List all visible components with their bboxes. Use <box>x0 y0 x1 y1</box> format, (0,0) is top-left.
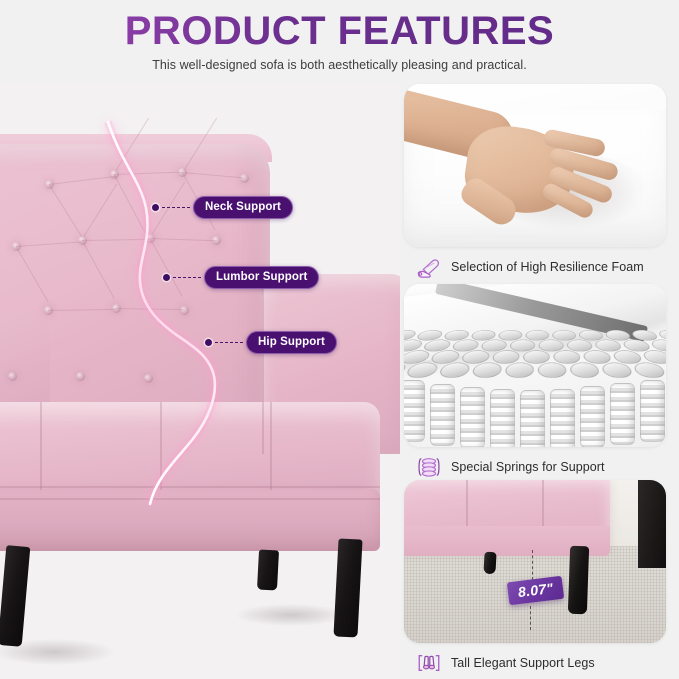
callout-lumbor-support[interactable]: Lumbor Support <box>163 266 319 289</box>
sofa-tuft-button <box>76 372 85 381</box>
callout-connector-line <box>173 277 201 278</box>
sofa-tuft-button <box>144 374 153 383</box>
sofa-seam <box>0 498 380 500</box>
callout-anchor-dot <box>205 339 212 346</box>
callout-label-hip-support[interactable]: Hip Support <box>246 331 337 354</box>
feature-photo-foam <box>404 84 666 247</box>
coil-spring-icon <box>416 454 442 480</box>
pocket-spring-coil <box>550 389 575 447</box>
pocket-spring-coil <box>490 389 515 447</box>
feature-photo-legs: 8.07" <box>404 480 666 643</box>
feature-panel-column: Selection of High Resilience Foam <box>404 84 679 679</box>
pocket-spring-coil <box>404 380 425 442</box>
page-subtitle: This well-designed sofa is both aestheti… <box>0 56 679 74</box>
pocket-spring-coil <box>580 386 605 447</box>
product-features-infographic: PRODUCT FEATURES This well-designed sofa… <box>0 0 679 679</box>
feature-caption-legs: Tall Elegant Support Legs <box>404 650 679 676</box>
callout-anchor-dot <box>152 204 159 211</box>
feature-caption-springs: Special Springs for Support <box>404 454 679 480</box>
sofa-base-seam <box>466 480 468 526</box>
feature-caption-text-springs: Special Springs for Support <box>451 460 605 474</box>
sofa-seam <box>160 402 162 490</box>
sofa-base-seam <box>542 480 544 526</box>
sofa-tuft-button <box>8 372 17 381</box>
callout-connector-line <box>215 342 243 343</box>
callout-neck-support[interactable]: Neck Support <box>152 196 293 219</box>
sofa-seam <box>0 486 380 488</box>
sofa-leg-front <box>568 546 589 615</box>
feature-photo-springs <box>404 284 666 447</box>
sofa-seam <box>270 402 272 490</box>
sofa-photo: Neck Support Lumbor Support Hip Support <box>0 84 400 679</box>
sofa-leg-shadow <box>236 604 346 626</box>
measurement-line-lower <box>530 606 531 630</box>
sofa-legs-icon <box>416 650 442 676</box>
feature-caption-foam: Selection of High Resilience Foam <box>404 254 679 280</box>
pocket-spring-coil <box>610 383 635 445</box>
feature-caption-text-foam: Selection of High Resilience Foam <box>451 260 644 274</box>
sofa-seam <box>262 274 264 454</box>
hand-on-foam-icon <box>416 254 442 280</box>
pocket-spring-coil <box>520 390 545 447</box>
sofa-leg <box>333 538 362 637</box>
sofa-leg-rear <box>483 552 496 575</box>
pocket-spring-coil <box>430 384 455 446</box>
callout-connector-line <box>162 207 190 208</box>
header: PRODUCT FEATURES This well-designed sofa… <box>0 0 679 84</box>
pocket-spring-coil <box>460 387 485 447</box>
sofa-leg <box>257 550 279 591</box>
feature-caption-text-legs: Tall Elegant Support Legs <box>451 656 595 670</box>
dark-door-frame <box>638 480 666 568</box>
pocket-spring-coil <box>640 380 665 442</box>
page-title: PRODUCT FEATURES <box>0 0 679 54</box>
callout-label-lumbor-support[interactable]: Lumbor Support <box>204 266 319 289</box>
sofa-seam <box>40 402 42 490</box>
measurement-line-upper <box>532 550 533 580</box>
feature-card-legs: 8.07" Tall Elegant Support Legs <box>404 480 679 676</box>
feature-card-springs: Special Springs for Support <box>404 284 679 480</box>
callout-hip-support[interactable]: Hip Support <box>205 331 337 354</box>
feature-card-foam: Selection of High Resilience Foam <box>404 84 679 280</box>
callout-anchor-dot <box>163 274 170 281</box>
callout-label-neck-support[interactable]: Neck Support <box>193 196 293 219</box>
